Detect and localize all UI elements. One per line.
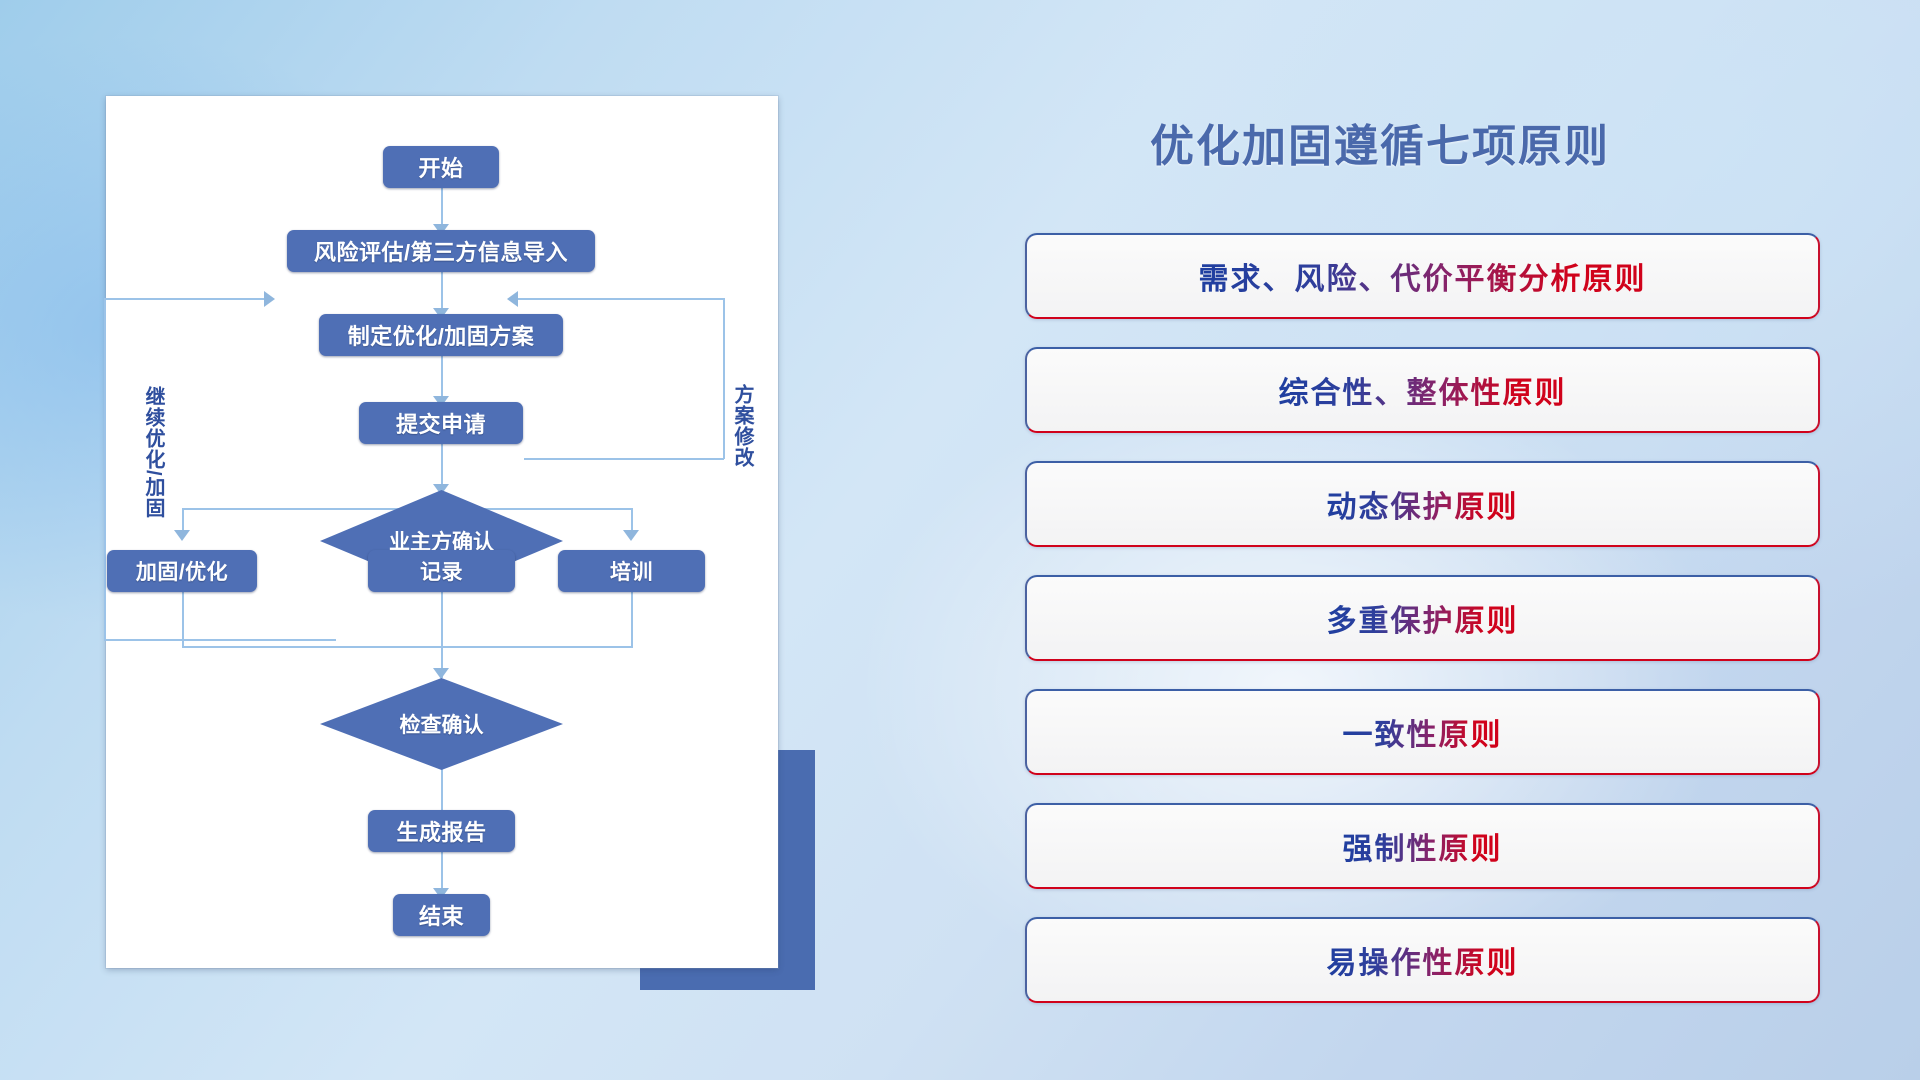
node-check-confirm-label: 检查确认 bbox=[400, 709, 484, 739]
connector-left-loop-bottom bbox=[104, 639, 336, 641]
arrowhead-left-loop bbox=[264, 291, 275, 307]
flowchart-card: 开始 风险评估/第三方信息导入 制定优化/加固方案 提交申请 业主方确认 加固/… bbox=[106, 96, 778, 968]
connector-reinforce-down bbox=[182, 592, 184, 647]
principle-card-7[interactable]: 易操作性原则 bbox=[1025, 917, 1820, 1003]
principle-label: 易操作性原则 bbox=[1327, 938, 1519, 982]
principle-label: 需求、风险、代价平衡分析原则 bbox=[1199, 254, 1647, 298]
node-end[interactable]: 结束 bbox=[393, 894, 490, 936]
principle-label: 一致性原则 bbox=[1343, 710, 1503, 754]
edge-label-right-loop: 方案修改 bbox=[731, 384, 752, 514]
arrowhead-training bbox=[623, 530, 639, 541]
node-submit-application[interactable]: 提交申请 bbox=[359, 402, 523, 444]
connector-record-down bbox=[441, 592, 443, 678]
node-start[interactable]: 开始 bbox=[383, 146, 499, 188]
connector-left-loop-vertical bbox=[104, 298, 106, 640]
node-training[interactable]: 培训 bbox=[558, 550, 705, 592]
arrowhead-right-loop bbox=[507, 291, 518, 307]
arrowhead-check bbox=[433, 668, 449, 679]
node-risk-assessment[interactable]: 风险评估/第三方信息导入 bbox=[287, 230, 595, 272]
principle-card-1[interactable]: 需求、风险、代价平衡分析原则 bbox=[1025, 233, 1820, 319]
arrowhead-reinforce bbox=[174, 530, 190, 541]
principle-card-2[interactable]: 综合性、整体性原则 bbox=[1025, 347, 1820, 433]
principle-list: 需求、风险、代价平衡分析原则 综合性、整体性原则 动态保护原则 多重保护原则 一… bbox=[1025, 233, 1820, 1031]
node-reinforce-optimize-label: 加固/优化 bbox=[136, 556, 228, 586]
slide-background: 开始 风险评估/第三方信息导入 制定优化/加固方案 提交申请 业主方确认 加固/… bbox=[0, 0, 1920, 1080]
principle-card-5[interactable]: 一致性原则 bbox=[1025, 689, 1820, 775]
node-generate-report-label: 生成报告 bbox=[396, 815, 486, 847]
connector-right-loop-top bbox=[518, 298, 724, 300]
node-generate-report[interactable]: 生成报告 bbox=[368, 810, 515, 852]
node-start-label: 开始 bbox=[418, 151, 463, 183]
node-make-plan[interactable]: 制定优化/加固方案 bbox=[319, 314, 563, 356]
node-training-label: 培训 bbox=[610, 556, 653, 586]
principle-label: 综合性、整体性原则 bbox=[1279, 368, 1567, 412]
principle-card-6[interactable]: 强制性原则 bbox=[1025, 803, 1820, 889]
connector-right-loop-bottom bbox=[524, 458, 724, 460]
node-end-label: 结束 bbox=[419, 899, 464, 931]
node-record[interactable]: 记录 bbox=[368, 550, 515, 592]
node-submit-application-label: 提交申请 bbox=[396, 407, 486, 439]
node-record-label: 记录 bbox=[420, 556, 463, 586]
principle-label: 强制性原则 bbox=[1343, 824, 1503, 868]
principle-label: 多重保护原则 bbox=[1327, 596, 1519, 640]
connector-right-loop-vertical bbox=[723, 298, 725, 459]
node-reinforce-optimize[interactable]: 加固/优化 bbox=[107, 550, 257, 592]
principle-label: 动态保护原则 bbox=[1327, 482, 1519, 526]
page-title: 优化加固遵循七项原则 bbox=[1150, 110, 1610, 174]
node-check-confirm[interactable]: 检查确认 bbox=[320, 678, 563, 770]
connector-merge bbox=[182, 646, 633, 648]
edge-label-left-loop: 继续优化/加固 bbox=[142, 386, 163, 546]
connector-left-loop-top bbox=[104, 298, 268, 300]
connector-check-to-report bbox=[441, 768, 443, 816]
node-make-plan-label: 制定优化/加固方案 bbox=[348, 319, 535, 351]
node-risk-assessment-label: 风险评估/第三方信息导入 bbox=[314, 235, 568, 267]
connector-training-down bbox=[631, 592, 633, 647]
principle-card-4[interactable]: 多重保护原则 bbox=[1025, 575, 1820, 661]
principle-card-3[interactable]: 动态保护原则 bbox=[1025, 461, 1820, 547]
